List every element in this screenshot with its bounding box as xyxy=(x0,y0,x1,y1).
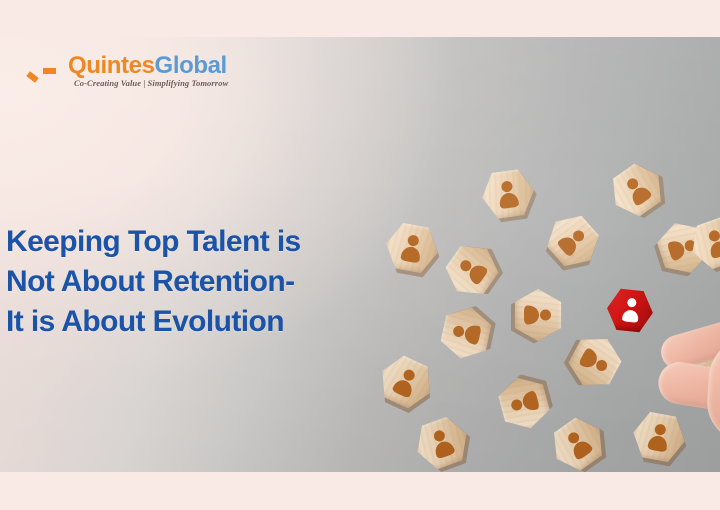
hexagon-tile xyxy=(562,328,629,396)
hexagon-face xyxy=(629,409,689,465)
hexagon-tile xyxy=(629,409,689,465)
person-body-icon xyxy=(524,306,539,325)
person-head-icon xyxy=(501,180,513,192)
logo-word-global: Global xyxy=(155,52,227,79)
hexagon-tile xyxy=(494,372,554,435)
person-body-icon xyxy=(463,323,482,345)
hexagon-face xyxy=(372,349,439,414)
hexagon-face xyxy=(662,335,720,405)
headline-text: Keeping Top Talent is Not About Retentio… xyxy=(6,222,406,342)
person-head-icon xyxy=(654,423,667,436)
hexagon-tile xyxy=(437,303,495,364)
logo-tagline: Co-Creating Value | Simplifying Tomorrow xyxy=(68,78,228,89)
person-body-icon xyxy=(520,390,539,412)
logo-text-block: QuintesGlobal Co-Creating Value | Simpli… xyxy=(68,52,228,89)
person-body-icon xyxy=(498,191,519,208)
hexagon-tile xyxy=(372,349,439,414)
headline-line-3: It is About Evolution xyxy=(6,302,406,342)
person-head-icon xyxy=(510,398,523,411)
person-head-icon xyxy=(452,325,465,338)
hexagon-tile xyxy=(538,206,608,277)
person-body-icon xyxy=(708,238,720,259)
hexagon-tile xyxy=(662,335,720,405)
highlighted-hexagon-tile xyxy=(605,287,655,335)
person-head-icon xyxy=(540,310,551,321)
qg-monogram-icon xyxy=(10,52,62,86)
bottom-color-band xyxy=(0,472,720,510)
hexagon-face xyxy=(437,303,495,364)
slide-canvas: QuintesGlobal Co-Creating Value | Simpli… xyxy=(0,0,720,510)
headline-line-1: Keeping Top Talent is xyxy=(6,222,406,262)
person-head-icon xyxy=(407,234,420,247)
hexagon-tile xyxy=(437,235,506,305)
hexagon-tile xyxy=(602,155,672,224)
logo-word-quintes: Quintes xyxy=(68,52,155,79)
hexagon-tile xyxy=(514,289,562,341)
person-body-icon xyxy=(647,434,668,452)
logo-g-bar xyxy=(43,68,56,74)
hexagon-face xyxy=(437,235,506,305)
top-color-band xyxy=(0,0,720,37)
person-body-icon xyxy=(667,239,687,262)
hexagon-tile xyxy=(543,409,613,472)
person-body-icon xyxy=(433,438,456,459)
hexagon-tile xyxy=(409,412,474,472)
logo-wordmark: QuintesGlobal xyxy=(68,53,228,78)
hexagon-face xyxy=(562,328,629,396)
headline-line-2: Not About Retention- xyxy=(6,262,406,302)
hexagon-tile xyxy=(479,167,537,222)
brand-logo: QuintesGlobal Co-Creating Value | Simpli… xyxy=(10,52,228,89)
